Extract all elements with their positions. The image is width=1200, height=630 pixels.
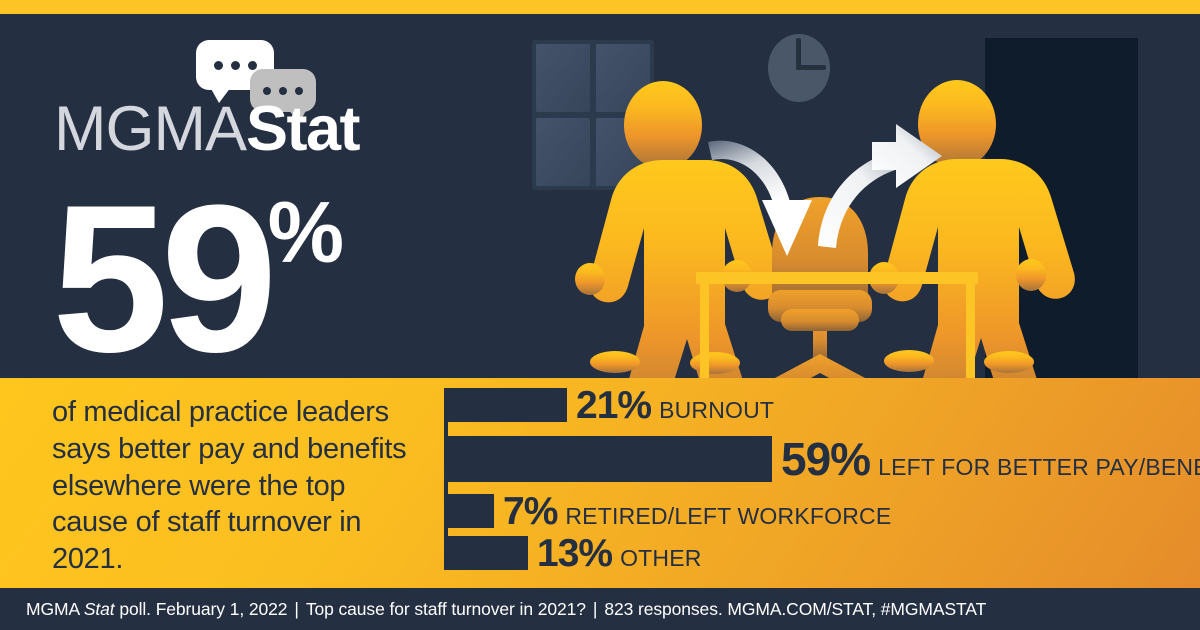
bar-category-burnout: BURNOUT <box>659 399 774 422</box>
turnover-bar-chart: 21% BURNOUT 59% LEFT FOR BETTER PAY/BENE… <box>444 386 1184 580</box>
footer-separator-2: | <box>586 599 604 619</box>
bar-burnout <box>448 388 567 422</box>
bar-category-better-pay: LEFT FOR BETTER PAY/BENEFITS <box>878 456 1200 479</box>
top-accent-bar <box>0 0 1200 14</box>
bar-other <box>448 536 528 570</box>
logo-wordmark: MGMAStat <box>54 98 359 161</box>
table-row: 13% OTHER <box>448 536 1184 570</box>
mgma-stat-logo: MGMAStat <box>54 40 394 165</box>
table-row: 7% RETIRED/LEFT WORKFORCE <box>448 494 1184 528</box>
bar-retired <box>448 494 494 528</box>
headline-stat: 59% <box>52 174 346 378</box>
bar-label-retired: 7% RETIRED/LEFT WORKFORCE <box>503 492 891 531</box>
table-row: 59% LEFT FOR BETTER PAY/BENEFITS <box>448 436 1184 482</box>
logo-mgma-text: MGMA <box>54 94 246 164</box>
table-row: 21% BURNOUT <box>448 388 1184 422</box>
wall-clock <box>768 34 830 102</box>
chart-rows: 21% BURNOUT 59% LEFT FOR BETTER PAY/BENE… <box>448 386 1184 570</box>
headline-stat-number: 59 <box>52 161 270 378</box>
footer-separator-1: | <box>287 599 305 619</box>
footer-bar: MGMA Stat poll. February 1, 2022|Top cau… <box>0 588 1200 630</box>
bar-value-better-pay: 59% <box>781 436 870 482</box>
hero-section: MGMAStat 59% <box>0 14 1200 378</box>
office-illustration <box>500 14 1200 378</box>
illustration-svg <box>500 14 1200 378</box>
footer-question: Top cause for staff turnover in 2021? <box>306 599 586 619</box>
bar-value-retired: 7% <box>503 492 557 531</box>
bar-category-other: OTHER <box>620 547 702 570</box>
footer-source-suffix: poll. February 1, 2022 <box>115 599 288 619</box>
infographic-root: MGMAStat 59% <box>0 0 1200 630</box>
footer-source-prefix: MGMA <box>26 599 84 619</box>
headline-stat-percent-sign: % <box>268 185 344 281</box>
footer-source-line: MGMA Stat poll. February 1, 2022|Top cau… <box>26 599 986 620</box>
panel-body-text: of medical practice leaders says better … <box>52 394 422 578</box>
bar-label-better-pay: 59% LEFT FOR BETTER PAY/BENEFITS <box>781 436 1200 482</box>
logo-stat-text: Stat <box>246 94 359 164</box>
bar-better-pay <box>448 436 772 482</box>
stat-panel: of medical practice leaders says better … <box>0 378 1200 588</box>
footer-source-italic: Stat <box>84 599 115 619</box>
bar-value-other: 13% <box>537 534 612 573</box>
bar-category-retired: RETIRED/LEFT WORKFORCE <box>565 505 891 528</box>
footer-responses: 823 responses. MGMA.COM/STAT, #MGMASTAT <box>604 599 986 619</box>
bar-value-burnout: 21% <box>576 386 651 425</box>
bar-label-other: 13% OTHER <box>537 534 702 573</box>
bar-label-burnout: 21% BURNOUT <box>576 386 774 425</box>
